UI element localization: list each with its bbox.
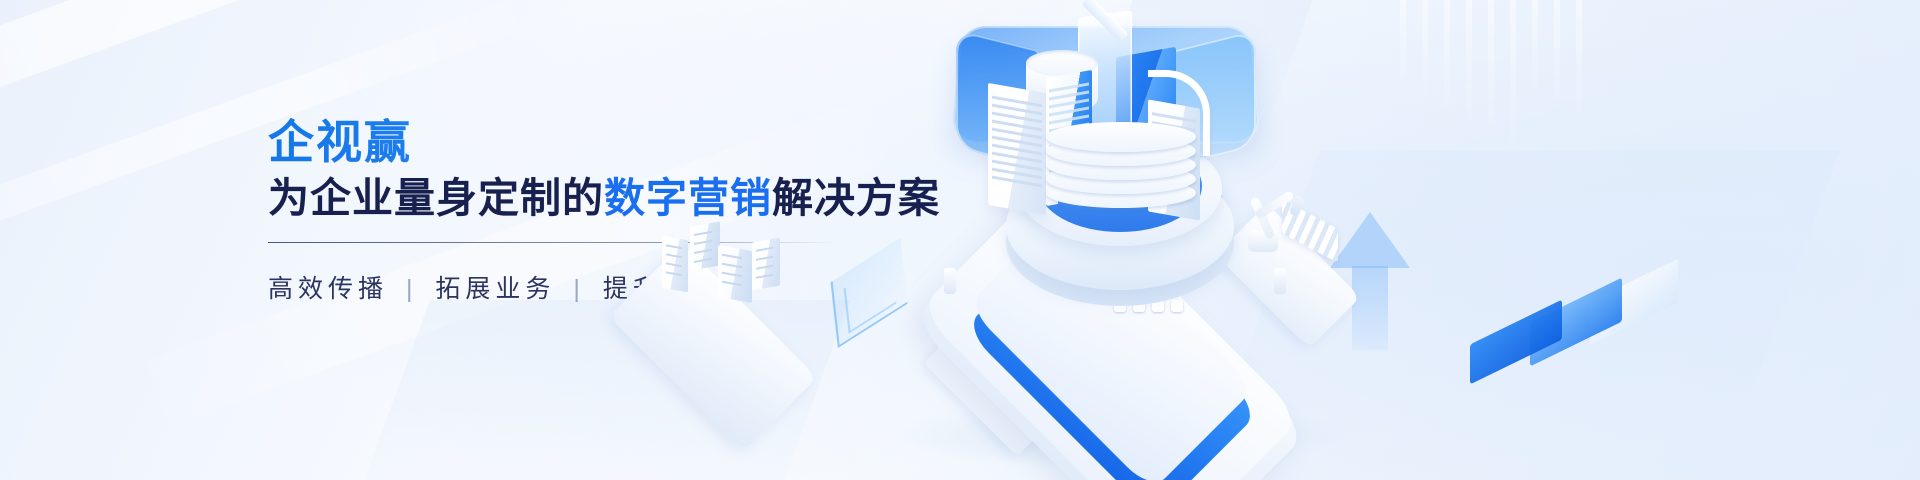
city-window-band bbox=[722, 263, 742, 269]
city-window-band bbox=[756, 247, 773, 252]
tagline-item-1: 高效传播 bbox=[268, 275, 388, 303]
ribbon-sheet-1 bbox=[1470, 300, 1562, 385]
tagline-item-2: 拓展业务 bbox=[435, 275, 555, 303]
illustration bbox=[830, 0, 1920, 480]
tagline-separator-2: | bbox=[567, 275, 591, 303]
platform-foot-left bbox=[944, 268, 956, 294]
indicator-dot bbox=[1171, 300, 1183, 312]
city-window-band bbox=[756, 256, 773, 261]
city-window-band bbox=[694, 249, 712, 254]
city-window-band bbox=[756, 274, 773, 279]
up-arrow-stem bbox=[1352, 266, 1388, 350]
city-building-1 bbox=[662, 236, 688, 293]
white-tower bbox=[988, 83, 1046, 215]
tagline-separator-1: | bbox=[400, 275, 424, 303]
city-window-band bbox=[694, 240, 712, 245]
city-window-band bbox=[722, 281, 742, 287]
up-arrow-icon bbox=[1330, 212, 1410, 268]
hero-banner: 企视赢 为企业量身定制的数字营销解决方案 高效传播 | 拓展业务 | 提升竞争力 bbox=[0, 0, 1920, 480]
city-window-band bbox=[666, 271, 682, 276]
disc-layer bbox=[1046, 122, 1196, 152]
city-window-band bbox=[666, 244, 682, 249]
stacked-data-disc bbox=[1046, 122, 1196, 212]
city-window-band bbox=[722, 272, 742, 278]
city-window-band bbox=[756, 265, 773, 270]
brand-title: 企视赢 bbox=[268, 118, 908, 166]
platform-foot-right bbox=[1274, 268, 1286, 294]
city-building-3 bbox=[718, 245, 752, 303]
tagline: 高效传播 | 拓展业务 | 提升竞争力 bbox=[268, 269, 908, 305]
headline-highlight: 数字营销 bbox=[604, 175, 772, 221]
city-building-2 bbox=[690, 221, 720, 270]
headline-prefix: 为企业量身定制的 bbox=[268, 175, 604, 221]
city-window-band bbox=[694, 231, 712, 236]
city-window-band bbox=[666, 253, 682, 258]
headline: 为企业量身定制的数字营销解决方案 bbox=[268, 176, 908, 222]
banner-copy: 企视赢 为企业量身定制的数字营销解决方案 高效传播 | 拓展业务 | 提升竞争力 bbox=[268, 118, 908, 305]
streak-1 bbox=[0, 0, 554, 3]
city-window-band bbox=[722, 254, 742, 260]
city-window-band bbox=[694, 258, 712, 263]
city-building-4 bbox=[752, 238, 780, 291]
city-window-band bbox=[666, 262, 682, 267]
